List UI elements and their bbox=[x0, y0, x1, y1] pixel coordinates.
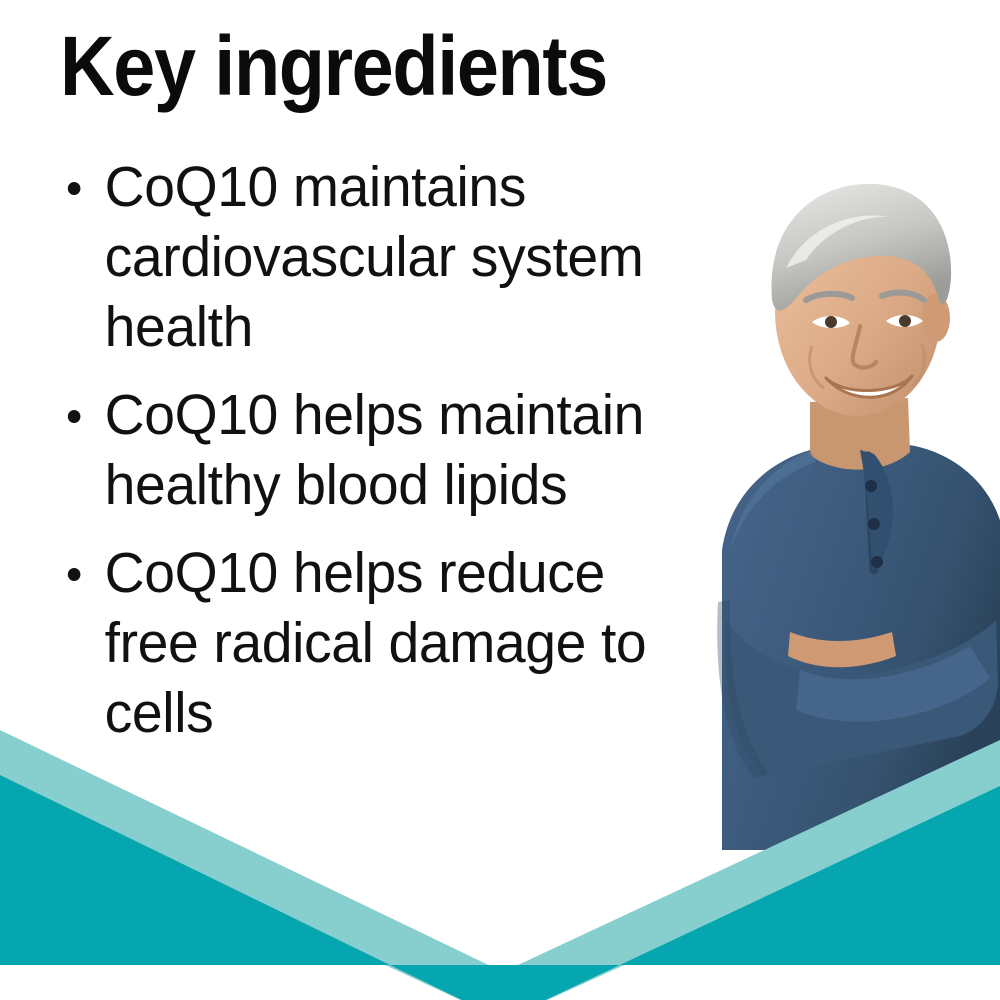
page-title: Key ingredients bbox=[60, 22, 607, 111]
list-item-label: CoQ10 helps reduce free radical damage t… bbox=[105, 541, 647, 745]
bullet-dot-icon bbox=[68, 182, 81, 195]
avatar-photo bbox=[660, 150, 1000, 850]
list-item: CoQ10 helps reduce free radical damage t… bbox=[62, 538, 683, 748]
bullet-dot-icon bbox=[68, 568, 81, 581]
key-ingredients-list: CoQ10 maintains cardiovascular system he… bbox=[62, 152, 702, 748]
list-item: CoQ10 helps maintain healthy blood lipid… bbox=[62, 380, 683, 520]
list-item-label: CoQ10 maintains cardiovascular system he… bbox=[105, 155, 644, 359]
list-item-label: CoQ10 helps maintain healthy blood lipid… bbox=[105, 383, 644, 517]
bullet-dot-icon bbox=[68, 410, 81, 423]
product-feature-card: Key ingredients CoQ10 maintains cardiova… bbox=[0, 0, 1000, 1000]
list-item: CoQ10 maintains cardiovascular system he… bbox=[62, 152, 683, 362]
